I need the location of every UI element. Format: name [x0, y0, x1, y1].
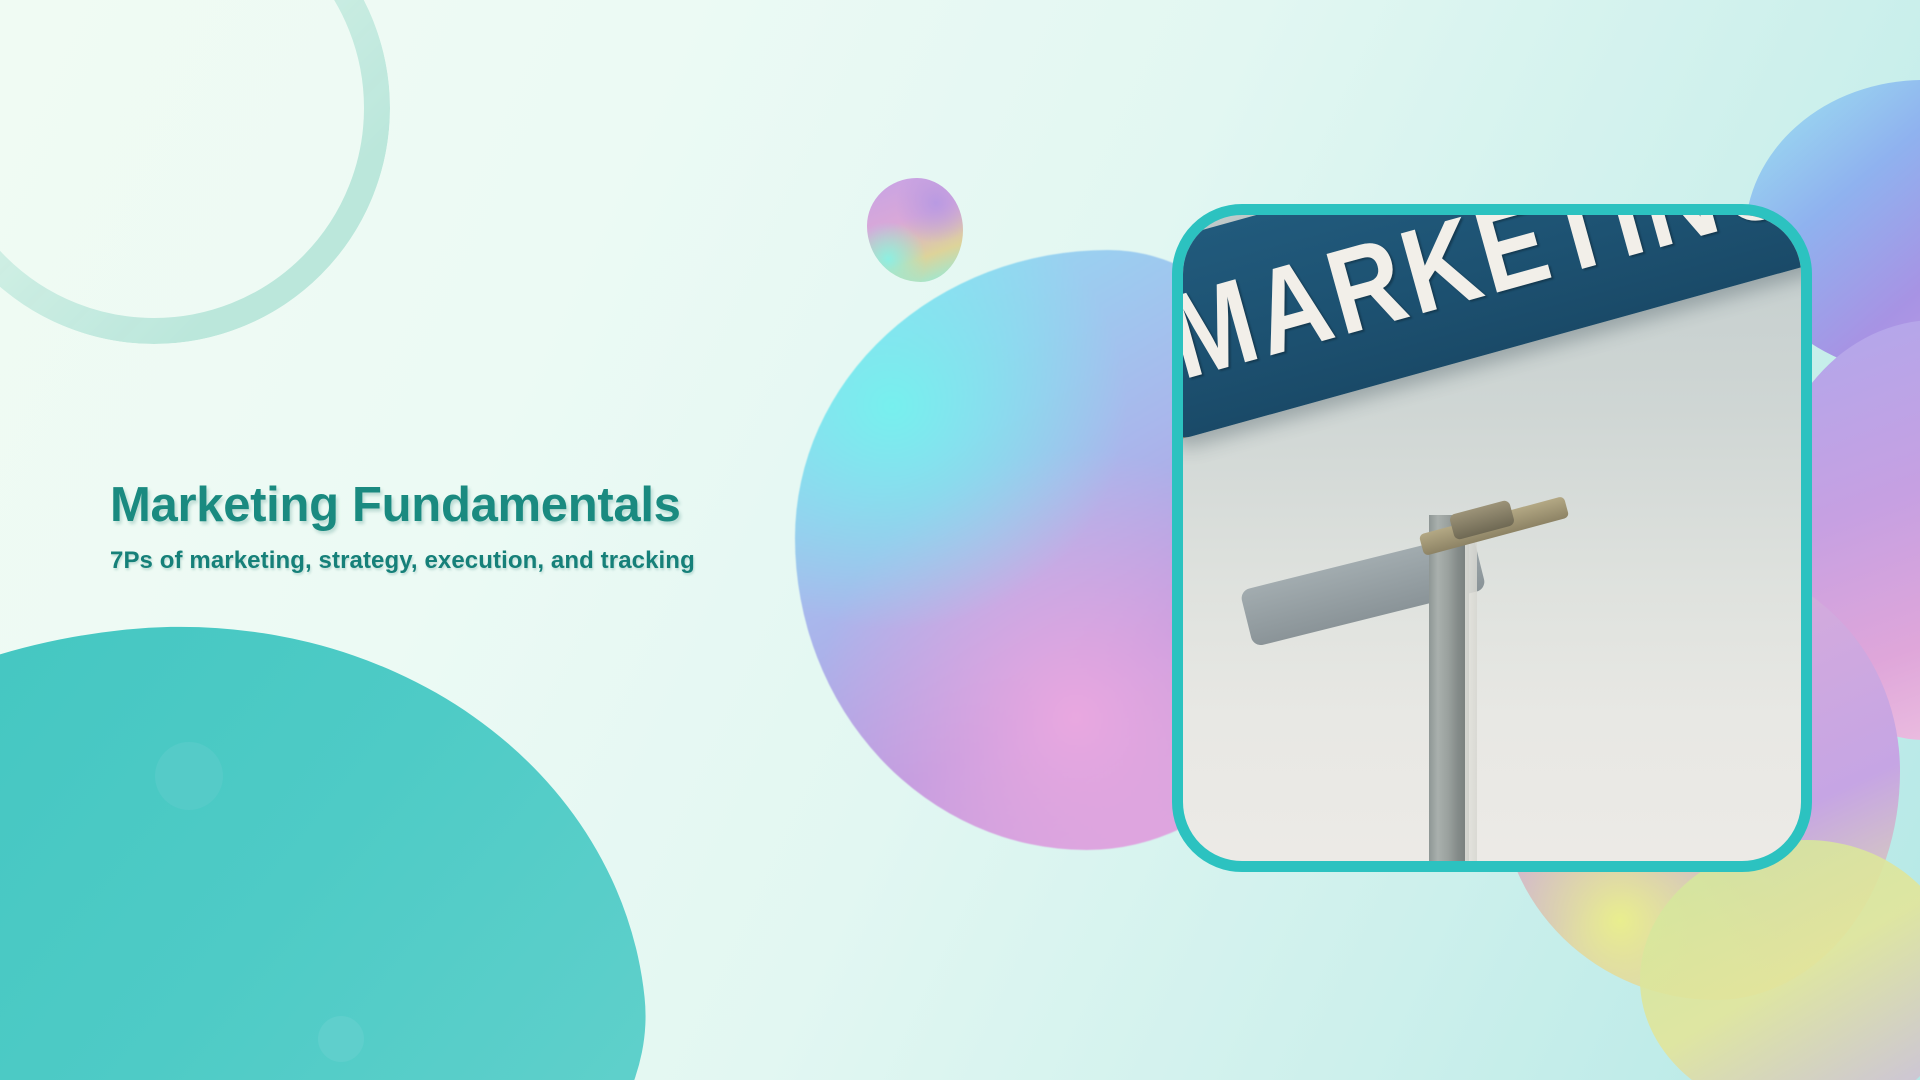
- page-subtitle: 7Ps of marketing, strategy, execution, a…: [110, 547, 950, 575]
- marketing-street-sign: MARKETING: [1183, 215, 1801, 441]
- marketing-image-card: MARKETING: [1172, 204, 1812, 872]
- teal-dot-small-decoration: [318, 1016, 364, 1062]
- slide-canvas: Marketing Fundamentals 7Ps of marketing,…: [0, 0, 1920, 1080]
- page-title: Marketing Fundamentals: [110, 478, 950, 533]
- ring-outline-decoration: [0, 0, 390, 344]
- teal-dot-large-decoration: [155, 742, 223, 810]
- sign-post-highlight: [1465, 515, 1477, 861]
- street-sign-photo: MARKETING: [1183, 215, 1801, 861]
- slide-text-block: Marketing Fundamentals 7Ps of marketing,…: [110, 478, 950, 575]
- yellow-green-blob-decoration: [1640, 840, 1920, 1080]
- teal-wave-blob-decoration: [0, 580, 674, 1080]
- purple-egg-blob-decoration: [867, 178, 963, 282]
- sign-post: [1429, 515, 1469, 861]
- sign-label: MARKETING: [1183, 215, 1801, 398]
